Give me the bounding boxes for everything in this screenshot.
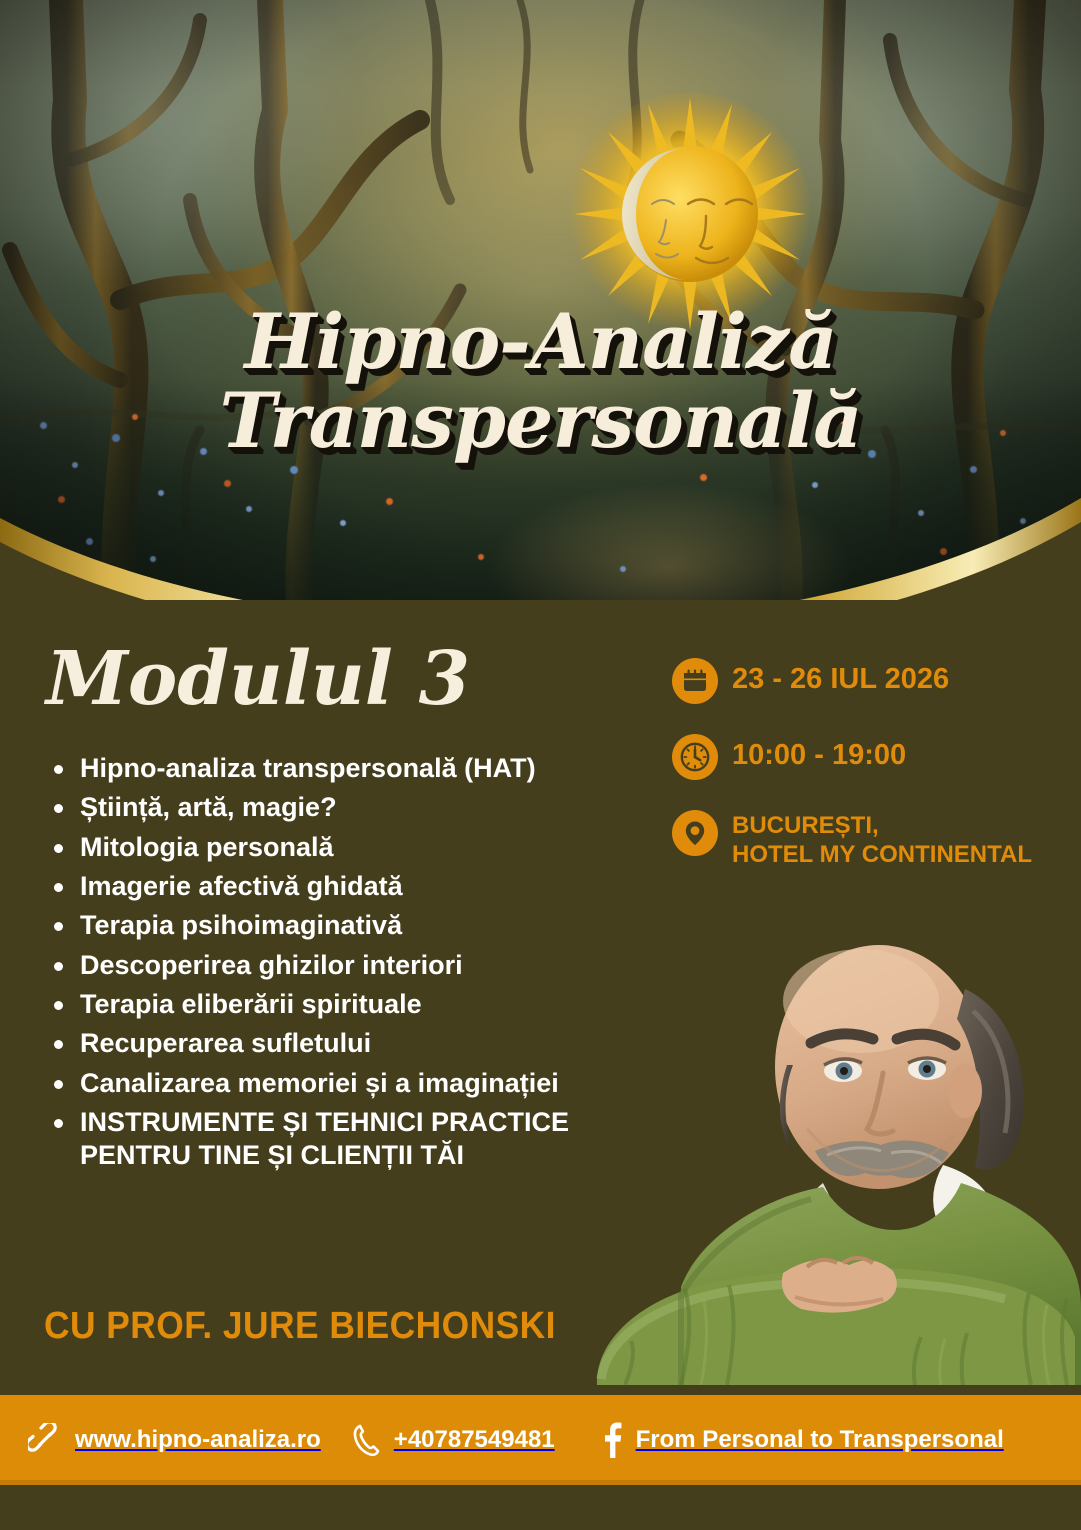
website-link[interactable]: www.hipno-analiza.ro xyxy=(28,1423,321,1457)
list-item: Terapia psihoimaginativă xyxy=(44,909,684,942)
link-icon xyxy=(28,1423,62,1457)
list-item: Recuperarea sufletului xyxy=(44,1027,684,1060)
list-item: Mitologia personală xyxy=(44,831,684,864)
event-time-text: 10:00 - 19:00 xyxy=(732,734,906,771)
list-item: Știință, artă, magie? xyxy=(44,791,684,824)
poster-root: Hipno-Analiză Transpersonală xyxy=(0,0,1081,1530)
presenter-name: CU PROF. JURE BIECHONSKI xyxy=(44,1305,556,1348)
list-item: Descoperirea ghizilor interiori xyxy=(44,949,684,982)
event-location-text: BUCUREȘTI, HOTEL MY CONTINENTAL xyxy=(732,810,1032,870)
list-item: INSTRUMENTE ȘI TEHNICI PRACTICE PENTRU T… xyxy=(44,1106,684,1173)
event-date-row: 23 - 26 IUL 2026 xyxy=(672,658,1072,704)
list-item: Hipno-analiza transpersonală (HAT) xyxy=(44,752,684,785)
list-item: Imagerie afectivă ghidată xyxy=(44,870,684,903)
contact-footer: www.hipno-analiza.ro +40787549481 From P… xyxy=(0,1395,1081,1485)
event-location-row: BUCUREȘTI, HOTEL MY CONTINENTAL xyxy=(672,810,1072,870)
list-item: Terapia eliberării spirituale xyxy=(44,988,684,1021)
phone-label: +40787549481 xyxy=(394,1426,555,1454)
facebook-label: From Personal to Transpersonal xyxy=(636,1426,1004,1454)
sun-moon-face-icon xyxy=(560,92,820,342)
module-heading: Modulul 3 xyxy=(46,636,470,722)
event-date-text: 23 - 26 IUL 2026 xyxy=(732,658,949,695)
facebook-link[interactable]: From Personal to Transpersonal xyxy=(601,1422,1004,1458)
calendar-icon xyxy=(672,658,718,704)
topics-list: Hipno-analiza transpersonală (HAT) Știin… xyxy=(44,752,684,1179)
website-label: www.hipno-analiza.ro xyxy=(75,1426,321,1454)
event-details: 23 - 26 IUL 2026 10:00 - 19:00 xyxy=(672,658,1072,900)
phone-icon xyxy=(351,1423,381,1457)
facebook-icon xyxy=(601,1422,623,1458)
phone-link[interactable]: +40787549481 xyxy=(351,1423,555,1457)
event-time-row: 10:00 - 19:00 xyxy=(672,734,1072,780)
list-item: Canalizarea memoriei și a imaginației xyxy=(44,1067,684,1100)
